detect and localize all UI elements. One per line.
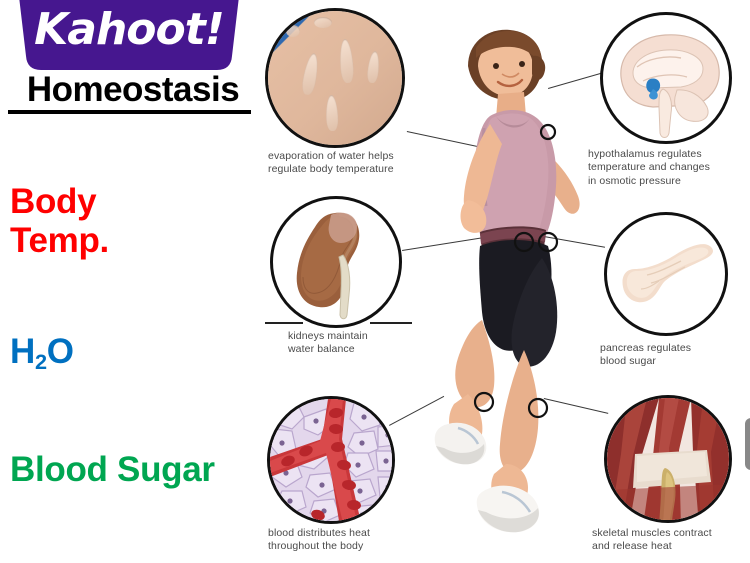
title-underline [8, 110, 251, 114]
concept-blood-sugar: Blood Sugar [10, 450, 215, 489]
slide-canvas: Kahoot! Homeostasis Body Temp. H2O Blood… [0, 0, 750, 563]
concept-water-subscript: 2 [35, 349, 47, 374]
questions-badge: 14 Questions [745, 418, 750, 470]
concept-body-temperature-line1: Body [10, 182, 109, 221]
concept-body-temperature-line2: Temp. [10, 221, 109, 260]
caption-blood-line2: throughout the body [268, 540, 438, 553]
title-block: Homeostasis [8, 72, 258, 114]
concept-water-element: H [10, 332, 35, 371]
running-woman-illustration [372, 20, 642, 540]
concept-water: H2O [10, 332, 74, 374]
kahoot-wordmark-text: Kahoot! [18, 8, 240, 52]
concept-water-oxygen: O [47, 332, 74, 371]
concept-body-temperature: Body Temp. [10, 182, 109, 260]
page-title: Homeostasis [8, 72, 258, 109]
homeostasis-diagram: evaporation of water helps regulate body… [252, 0, 750, 563]
kidney-rule-left [265, 322, 303, 324]
caption-muscle-line2: and release heat [592, 540, 750, 553]
